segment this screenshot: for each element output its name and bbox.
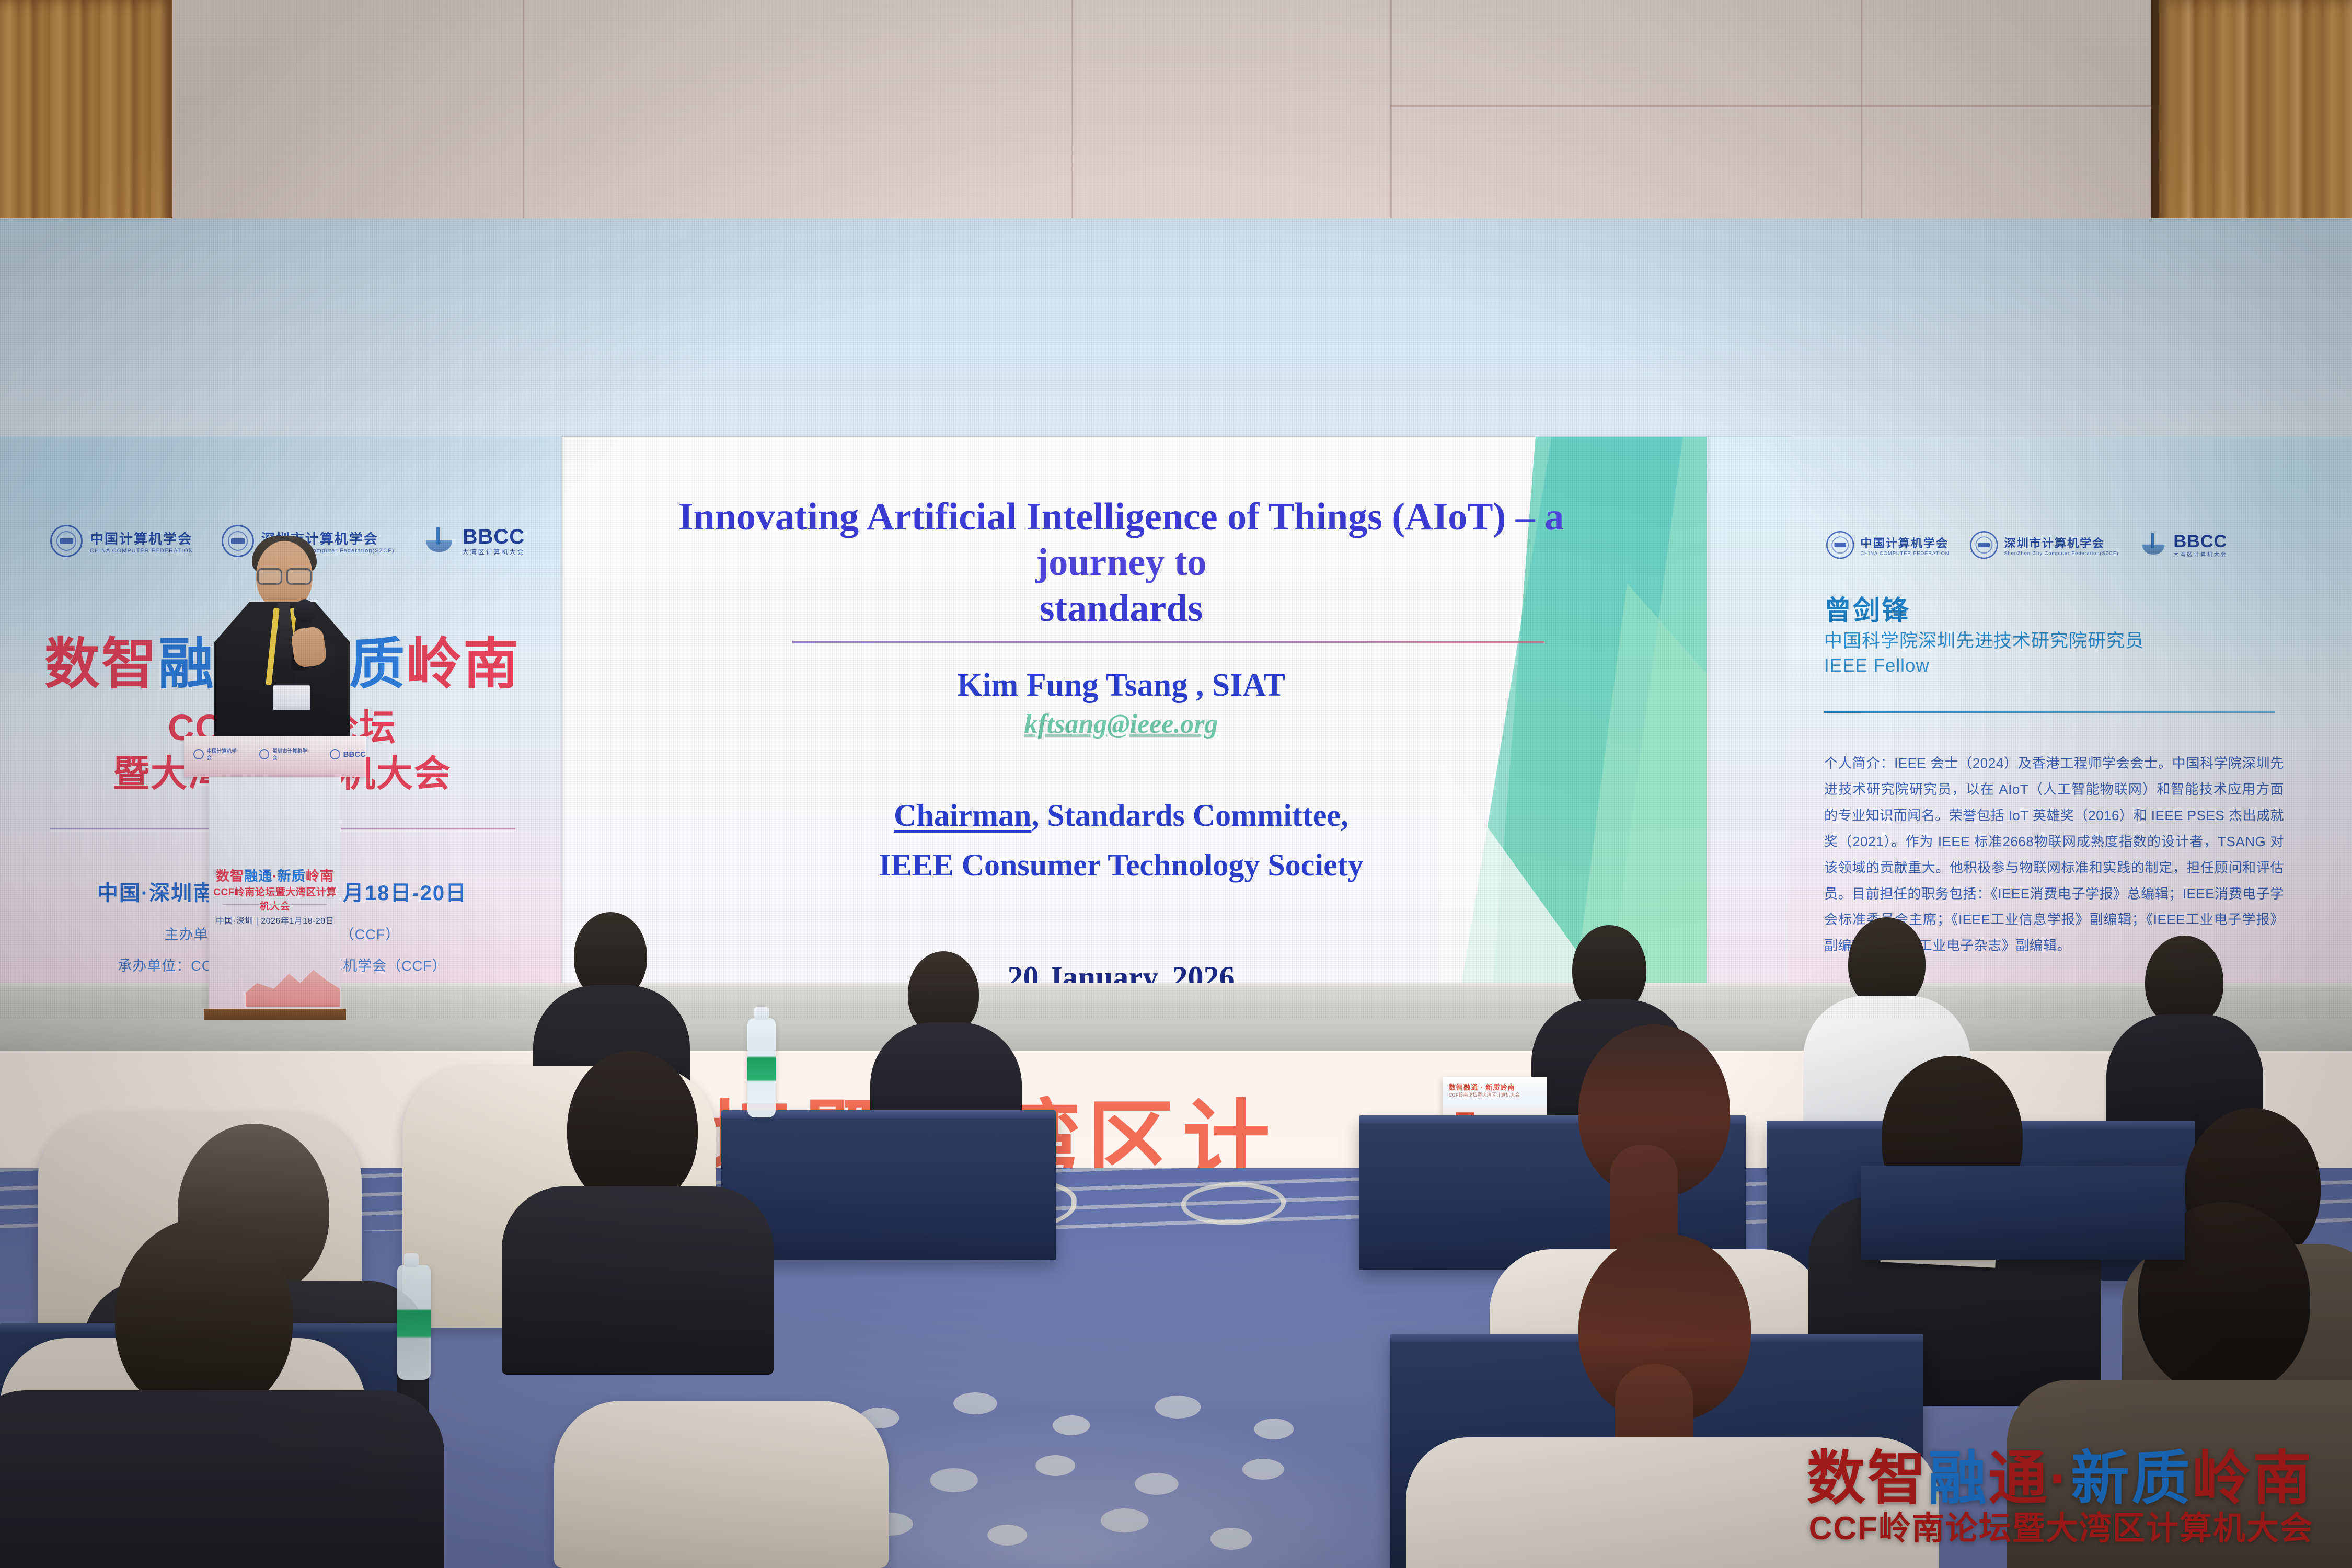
szcf-logo-right: 深圳市计算机学会 ShenZhen City Computer Federati… xyxy=(1970,531,2118,559)
wm-seg4: 新质 xyxy=(2071,1446,2192,1511)
name-card-header: 数智融通 · 新质岭南 xyxy=(1449,1082,1515,1092)
slide-role-line1: Chairman, Standards Committee, xyxy=(625,798,1618,834)
lectern-title-seg1: 数智 xyxy=(216,868,244,884)
wm-seg1: 数智 xyxy=(1807,1446,1928,1511)
speaker-person xyxy=(214,541,350,750)
bbcc-logo-name: BBCC xyxy=(2173,532,2227,550)
person-body xyxy=(502,1186,774,1375)
ccf-logo-name-cn: 中国计算机学会 xyxy=(90,528,193,548)
bbcc-boat-icon xyxy=(330,749,340,759)
ccf-circle-icon xyxy=(50,525,83,557)
lectern-title-seg2: 融通 xyxy=(244,868,272,884)
audience-table-right-3 xyxy=(1861,1166,2185,1260)
slide-title: Innovating Artificial Intelligence of Th… xyxy=(625,494,1618,631)
lectern-base xyxy=(204,1009,346,1020)
banner-title-seg5: 岭南 xyxy=(406,633,520,695)
slide-email-link[interactable]: kftsang@ieee.org xyxy=(625,709,1618,740)
water-bottle xyxy=(397,1265,431,1380)
speaker-affiliation: 中国科学院深圳先进技术研究院研究员 xyxy=(1824,626,2144,653)
slide-title-line1: Innovating Artificial Intelligence of Th… xyxy=(678,495,1535,538)
bbcc-boat-icon xyxy=(423,525,455,557)
person-head xyxy=(115,1218,293,1416)
slide-role-line2: IEEE Consumer Technology Society xyxy=(625,847,1618,883)
slide-role-chairman: Chairman xyxy=(894,798,1031,833)
bbcc-logo-name: BBCC xyxy=(463,526,525,547)
szcf-globe-icon xyxy=(1970,531,1998,559)
watermark-line-1: 数智融通·新质岭南 xyxy=(1807,1448,2313,1510)
lectern-title-seg5: 岭南 xyxy=(306,868,334,884)
lectern-title: 数智融通·新质岭南 xyxy=(209,866,341,885)
banner-title-seg1: 数智 xyxy=(44,633,158,695)
lectern-top: 中国计算机学会 深圳市计算机学会 BBCC xyxy=(184,736,366,777)
audience-person-mid-2 xyxy=(523,1051,747,1343)
speaker-name: 曾剑锋 xyxy=(1824,589,1910,628)
watermark-line-2: CCF岭南论坛暨大湾区计算机大会 xyxy=(1807,1510,2313,1547)
ccf-circle-icon xyxy=(193,749,204,759)
event-watermark: 数智融通·新质岭南 CCF岭南论坛暨大湾区计算机大会 xyxy=(1807,1448,2313,1547)
water-bottle xyxy=(747,1018,776,1117)
ccf-logo-name-en: CHINA COMPUTER FEDERATION xyxy=(1860,550,1949,556)
bbcc-logo-right: BBCC 大湾区计算机大会 xyxy=(2139,531,2228,559)
audience-chair-front-center xyxy=(554,1401,889,1568)
slide-role-committee: , Standards Committee, xyxy=(1031,798,1348,833)
deco-edge-strip xyxy=(1707,437,1790,1018)
name-card-subheader: CCF岭南论坛暨大湾区计算机大会 xyxy=(1449,1091,1520,1098)
ccf-logo-name-en: CHINA COMPUTER FEDERATION xyxy=(90,548,193,554)
ccf-logo-name-cn: 中国计算机学会 xyxy=(1860,534,1949,551)
conference-photo-scene: 中国计算机学会 CHINA COMPUTER FEDERATION 深圳市计算机… xyxy=(0,0,2352,1568)
lectern-divider xyxy=(223,904,327,905)
glasses-icon xyxy=(256,568,313,582)
wm-seg3: 通· xyxy=(1989,1446,2071,1511)
carpet-pebble-pattern xyxy=(815,1385,1348,1568)
audience-person-front-left xyxy=(26,1218,392,1568)
bbcc-logo: BBCC 大湾区计算机大会 xyxy=(423,525,525,557)
lectern-title-seg3: · xyxy=(272,868,278,884)
wm-seg5: 岭南 xyxy=(2192,1446,2313,1511)
speaker-divider xyxy=(1824,711,2275,713)
lectern-skyline-graphic xyxy=(246,960,340,1007)
wm-seg2: 融 xyxy=(1928,1446,1989,1511)
ccf-circle-icon xyxy=(1826,531,1854,559)
lectern-logo-row: 中国计算机学会 深圳市计算机学会 BBCC xyxy=(193,747,366,761)
lectern-subtitle: CCF岭南论坛暨大湾区计算机大会 xyxy=(209,884,341,913)
ccf-logo-right: 中国计算机学会 CHINA COMPUTER FEDERATION xyxy=(1826,531,1949,559)
right-panel-logo-row: 中国计算机学会 CHINA COMPUTER FEDERATION 深圳市计算机… xyxy=(1826,531,2228,559)
person-head xyxy=(567,1051,698,1207)
person-body xyxy=(0,1390,444,1568)
bbcc-boat-icon xyxy=(2139,531,2167,559)
ccf-logo: 中国计算机学会 CHINA COMPUTER FEDERATION xyxy=(50,525,193,557)
speaker-badge xyxy=(273,685,310,710)
lectern-logo-szcf: 深圳市计算机学会 xyxy=(272,747,312,761)
slide-author: Kim Fung Tsang , SIAT xyxy=(625,667,1618,704)
bbcc-logo-sub: 大湾区计算机大会 xyxy=(463,547,525,556)
lectern: 中国计算机学会 深圳市计算机学会 BBCC 数智融通·新质岭南 CCF岭南论坛暨… xyxy=(184,736,366,1018)
szcf-globe-icon xyxy=(259,749,270,759)
speaker-fellow-title: IEEE Fellow xyxy=(1824,655,1930,676)
lectern-meta: 中国·深圳 | 2026年1月18-20日 xyxy=(209,914,341,926)
lectern-front-panel: 数智融通·新质岭南 CCF岭南论坛暨大湾区计算机大会 中国·深圳 | 2026年… xyxy=(209,777,341,1018)
lectern-logo-ccf: 中国计算机学会 xyxy=(207,747,241,761)
speaker-hand xyxy=(290,626,328,668)
lectern-logo-bbcc: BBCC xyxy=(343,750,366,759)
lectern-title-seg4: 新质 xyxy=(278,868,306,884)
szcf-logo-name-en: ShenZhen City Computer Federation(SZCF) xyxy=(2004,550,2118,556)
szcf-logo-name-cn: 深圳市计算机学会 xyxy=(2004,534,2118,551)
slide-title-line2: standards xyxy=(1040,587,1203,630)
bbcc-logo-sub: 大湾区计算机大会 xyxy=(2173,550,2227,558)
slide-divider xyxy=(792,641,1544,643)
